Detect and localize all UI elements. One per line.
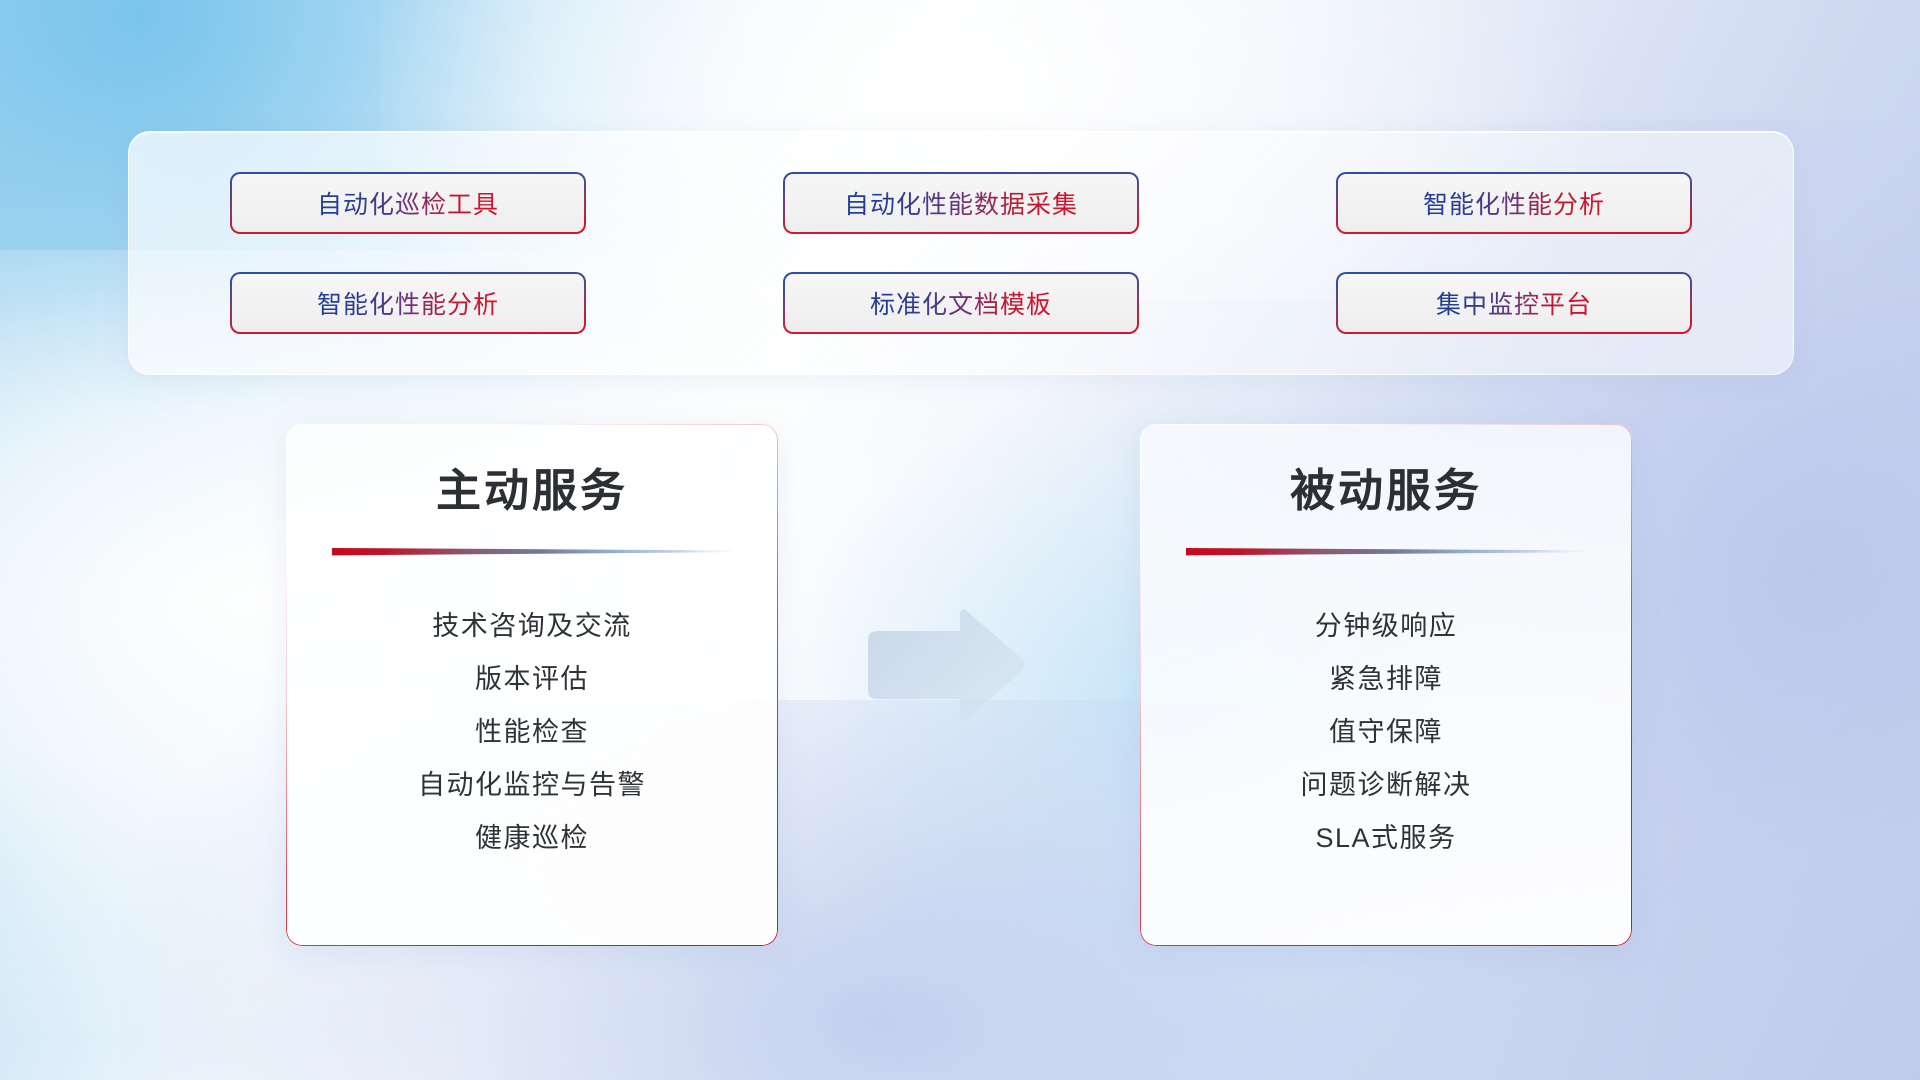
capability-pill-standard-doc-template[interactable]: 标准化文档模板: [783, 272, 1139, 334]
card-list-item: 值守保障: [1140, 706, 1632, 759]
capability-pill-surface: 集中监控平台: [1338, 274, 1690, 332]
capability-pill-label: 标准化文档模板: [870, 285, 1052, 321]
capability-pill-surface: 智能化性能分析: [232, 274, 584, 332]
capability-pill-central-monitoring-platform[interactable]: 集中监控平台: [1336, 272, 1692, 334]
capability-pill-surface: 自动化巡检工具: [232, 174, 584, 232]
capability-pill-surface: 智能化性能分析: [1338, 174, 1690, 232]
capability-pill-surface: 自动化性能数据采集: [785, 174, 1137, 232]
card-title-reactive: 被动服务: [1140, 424, 1632, 519]
card-list-item: 分钟级响应: [1140, 600, 1632, 653]
capability-pill-auto-inspection-tool[interactable]: 自动化巡检工具: [230, 172, 586, 234]
card-list-item: 版本评估: [286, 653, 778, 706]
capability-pill-label: 自动化巡检工具: [317, 185, 499, 221]
card-item-list-proactive: 技术咨询及交流 版本评估 性能检查 自动化监控与告警 健康巡检: [286, 556, 778, 865]
card-divider-proactive: [332, 547, 732, 556]
card-list-item: 问题诊断解决: [1140, 759, 1632, 812]
capability-pill-intelligent-perf-analysis-1[interactable]: 智能化性能分析: [1336, 172, 1692, 234]
card-list-item: 紧急排障: [1140, 653, 1632, 706]
capability-pill-label: 智能化性能分析: [317, 285, 499, 321]
card-item-list-reactive: 分钟级响应 紧急排障 值守保障 问题诊断解决 SLA式服务: [1140, 556, 1632, 865]
card-list-item: 性能检查: [286, 706, 778, 759]
card-list-item: 技术咨询及交流: [286, 600, 778, 653]
capability-pill-intelligent-perf-analysis-2[interactable]: 智能化性能分析: [230, 272, 586, 334]
service-card-proactive: 主动服务 技术咨询及交流 版本评估: [286, 424, 778, 946]
card-list-item: 自动化监控与告警: [286, 759, 778, 812]
capability-pill-auto-perf-data-collection[interactable]: 自动化性能数据采集: [783, 172, 1139, 234]
diagram-stage: 自动化巡检工具 自动化性能数据采集 智能化性能分析 智能化性能分析: [0, 0, 1920, 1080]
card-list-item: SLA式服务: [1140, 812, 1632, 865]
capability-pill-label: 自动化性能数据采集: [844, 185, 1078, 221]
capability-panel: 自动化巡检工具 自动化性能数据采集 智能化性能分析 智能化性能分析: [128, 131, 1794, 375]
card-list-item: 健康巡检: [286, 812, 778, 865]
capability-pill-grid: 自动化巡检工具 自动化性能数据采集 智能化性能分析 智能化性能分析: [230, 172, 1692, 334]
card-title-proactive: 主动服务: [286, 424, 778, 519]
arrow-right-icon: [862, 606, 1028, 724]
capability-pill-surface: 标准化文档模板: [785, 274, 1137, 332]
capability-pill-label: 智能化性能分析: [1423, 185, 1605, 221]
service-card-reactive: 被动服务 分钟级响应 紧急排障: [1140, 424, 1632, 946]
card-divider-reactive: [1186, 547, 1586, 556]
capability-pill-label: 集中监控平台: [1436, 285, 1592, 321]
